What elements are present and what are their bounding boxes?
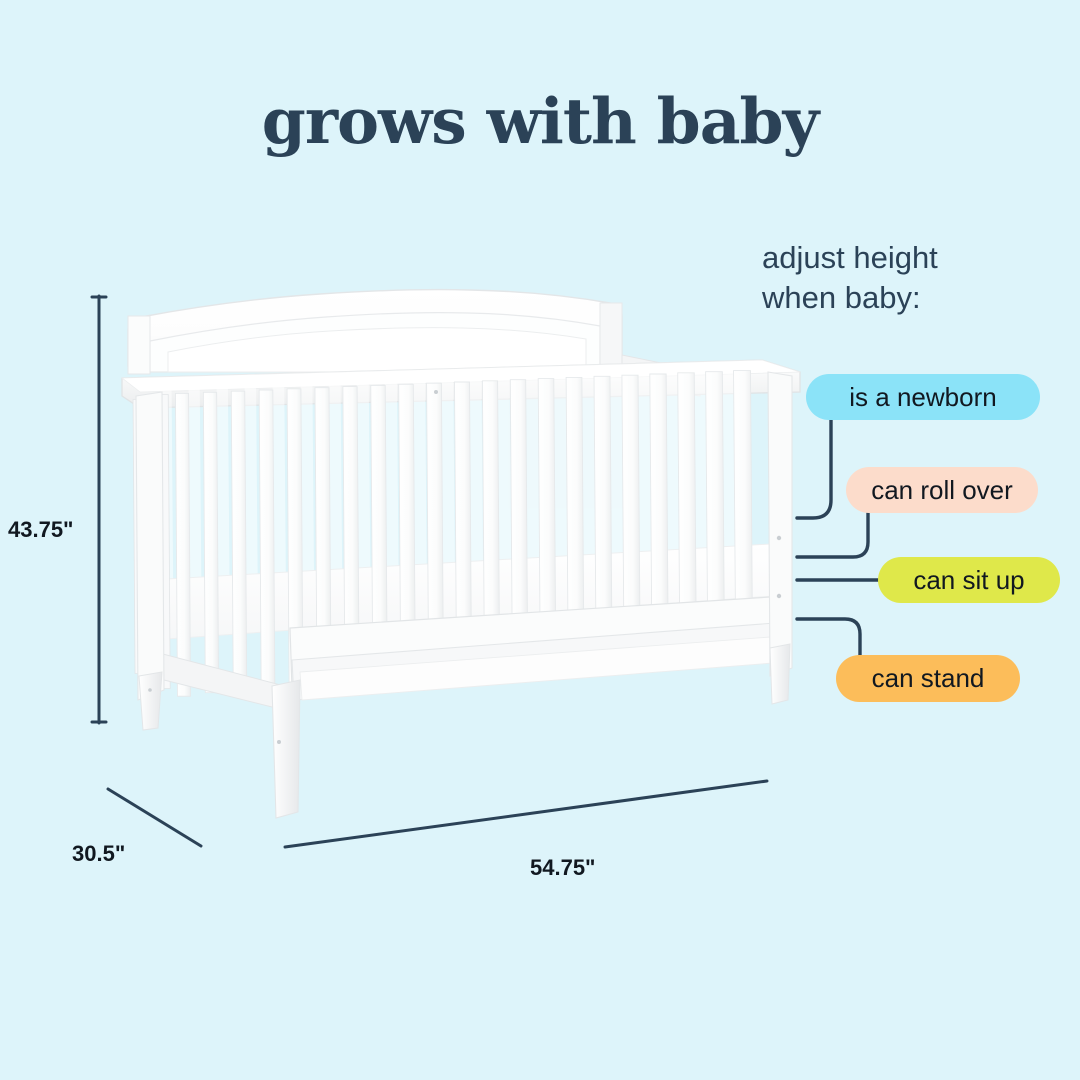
- page-title: grows with baby: [0, 88, 1080, 154]
- milestone-pill-can-sit-up[interactable]: can sit up: [878, 557, 1060, 603]
- height-dimension-label: 43.75": [8, 517, 73, 543]
- milestone-pill-can-roll-over[interactable]: can roll over: [846, 467, 1038, 513]
- milestone-pill-label: can stand: [872, 663, 985, 694]
- crib-illustration: [0, 0, 1080, 1080]
- milestone-pill-can-stand[interactable]: can stand: [836, 655, 1020, 702]
- depth-dimension-label: 30.5": [72, 841, 125, 867]
- crib-headboard: [128, 290, 622, 374]
- width-dimension-label: 54.75": [530, 855, 595, 881]
- milestone-pill-label: is a newborn: [849, 382, 996, 413]
- adjust-height-heading: adjust height when baby:: [762, 238, 938, 318]
- infographic-canvas: grows with baby adjust height when baby:…: [0, 0, 1080, 1080]
- milestone-pill-is-a-newborn[interactable]: is a newborn: [806, 374, 1040, 420]
- milestone-pill-label: can sit up: [913, 565, 1024, 596]
- milestone-pill-label: can roll over: [871, 475, 1013, 506]
